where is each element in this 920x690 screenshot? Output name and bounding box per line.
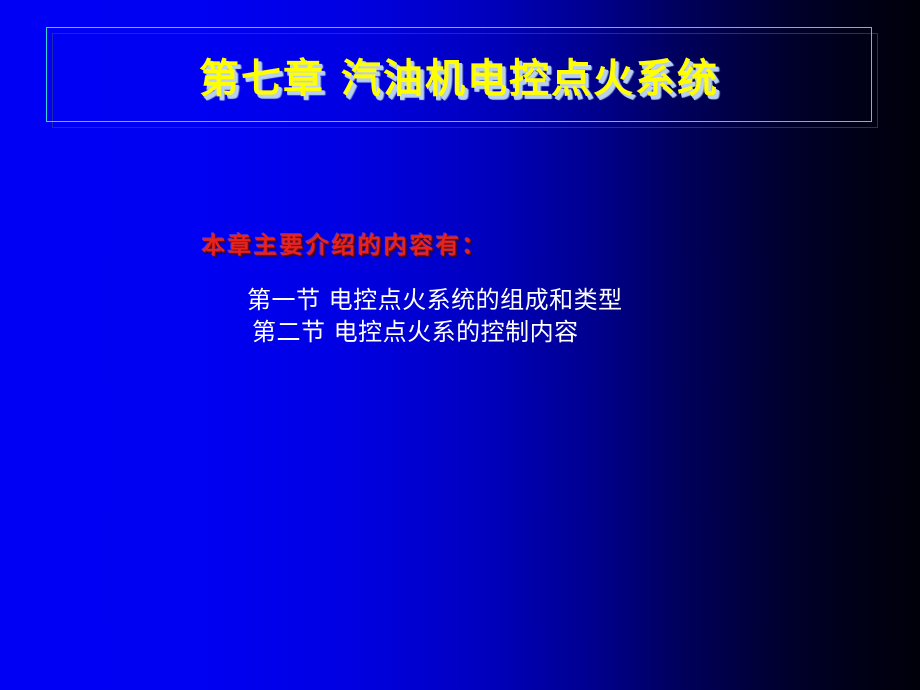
slide-title: 第七章 汽油机电控点火系统 xyxy=(46,27,872,122)
presentation-slide: 第七章 汽油机电控点火系统 本章主要介绍的内容有： 第一节 电控点火系统的组成和… xyxy=(0,0,920,690)
section-item-2: 第二节 电控点火系的控制内容 xyxy=(0,316,920,348)
section-item-1: 第一节 电控点火系统的组成和类型 xyxy=(0,284,920,316)
section-list: 第一节 电控点火系统的组成和类型 第二节 电控点火系的控制内容 xyxy=(0,284,920,348)
intro-heading: 本章主要介绍的内容有： xyxy=(202,226,488,260)
